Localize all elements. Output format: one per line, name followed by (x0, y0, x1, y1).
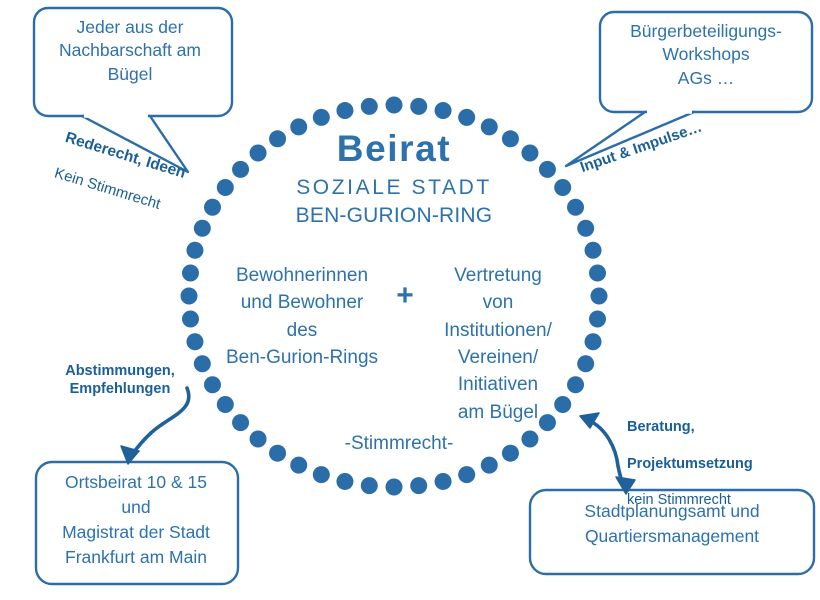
annotation-beratung-projektumsetzung: Beratung, Projektumsetzung kein Stimmrec… (627, 400, 791, 528)
diagram-canvas: Jeder aus der Nachbarschaft am Bügel Bür… (0, 0, 820, 600)
ring-dot (186, 242, 203, 259)
ring-dot (577, 355, 594, 372)
ring-dot (204, 199, 221, 216)
ring-dot (410, 477, 427, 494)
ring-dot (194, 355, 211, 372)
ring-dot (386, 479, 403, 496)
ring-dot (585, 333, 602, 350)
ring-dot (435, 473, 452, 490)
ring-dot (269, 445, 286, 462)
ring-dot (182, 311, 199, 328)
ring-dot (336, 102, 353, 119)
ring-dot (502, 445, 519, 462)
ring-dot (217, 396, 234, 413)
ring-dot (250, 430, 267, 447)
ring-dot (458, 466, 475, 483)
ring-dot (204, 376, 221, 393)
ring-dot (589, 311, 606, 328)
arrow-ring-to-ortsbeirat (121, 388, 189, 464)
ring-dot (589, 264, 606, 281)
annotation-beratung-line-2: Projektumsetzung (627, 455, 791, 473)
ring-dot (554, 179, 571, 196)
member-group-residents: Bewohnerinnen und Bewohner des Ben-Gurio… (216, 262, 388, 371)
ring-dot (591, 288, 608, 305)
bubble-top-right-text: Bürgerbeteiligungs- Workshops AGs … (604, 20, 808, 90)
ring-dot (458, 109, 475, 126)
page-title: Beirat (234, 126, 554, 171)
ring-dot (585, 242, 602, 259)
member-group-institutions: Vertretung von Institutionen/ Vereinen/ … (424, 262, 572, 426)
annotation-beratung-line-3: kein Stimmrecht (627, 491, 791, 509)
ring-dot (435, 102, 452, 119)
annotation-abstimmungen-empfehlungen: Abstimmungen, Empfehlungen (47, 362, 193, 399)
subtitle-line-1: SOZIALE STADT (234, 175, 554, 201)
ring-dot (182, 264, 199, 281)
plus-icon: + (388, 278, 422, 315)
subtitle-line-2: BEN-GURION-RING (234, 203, 554, 229)
box-bottom-left-text: Ortsbeirat 10 & 15 und Magistrat der Sta… (38, 470, 234, 569)
ring-dot (186, 333, 203, 350)
ring-dot (313, 466, 330, 483)
ring-dot (194, 220, 211, 237)
bubble-top-left-text: Jeder aus der Nachbarschaft am Bügel (24, 16, 236, 86)
ring-dot (410, 98, 427, 115)
ring-dot (181, 288, 198, 305)
ring-dot (361, 98, 378, 115)
ring-dot (232, 414, 249, 431)
ring-dot (577, 220, 594, 237)
ring-dot (336, 473, 353, 490)
ring-dot (313, 109, 330, 126)
ring-dot (290, 457, 307, 474)
voting-rights-note: -Stimmrecht- (316, 432, 482, 455)
ring-dot (361, 477, 378, 494)
annotation-beratung-line-1: Beratung, (627, 418, 791, 436)
ring-dot (386, 97, 403, 114)
ring-dot (217, 179, 234, 196)
ring-dot (521, 430, 538, 447)
ring-dot (567, 199, 584, 216)
ring-dot (481, 457, 498, 474)
